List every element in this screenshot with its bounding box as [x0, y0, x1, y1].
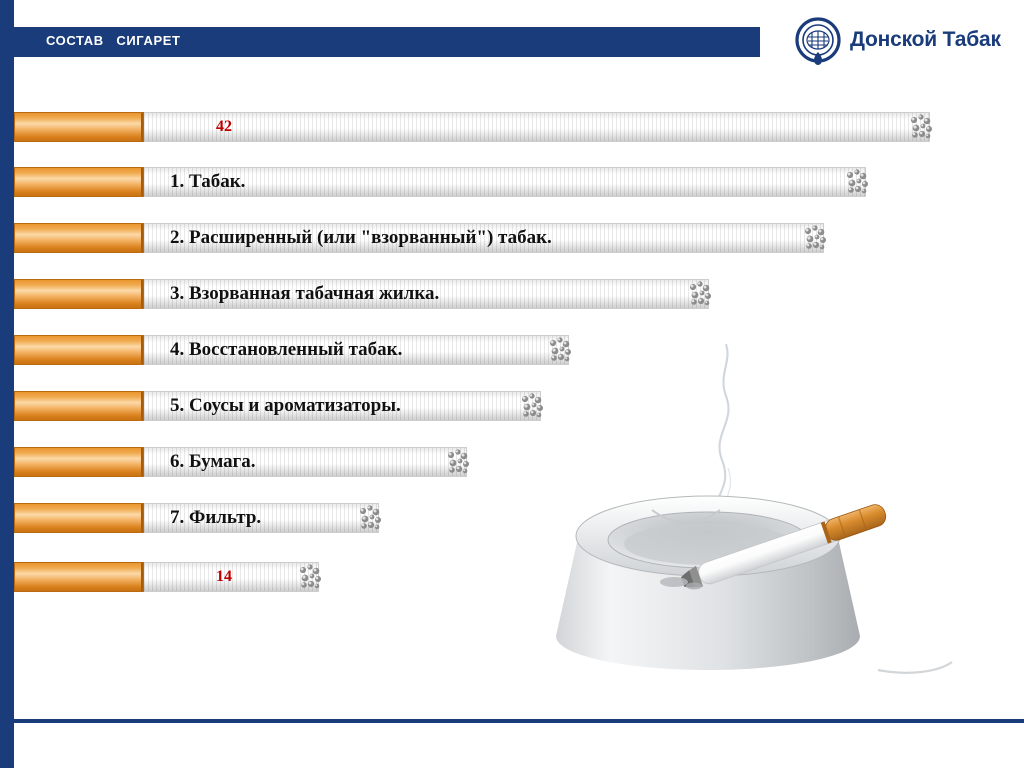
- ingredient-label: 4. Восстановленный табак.: [170, 339, 402, 361]
- cigarette-filter: [14, 503, 144, 533]
- cigarette-filter: [14, 562, 144, 592]
- ingredient-label: 6. Бумага.: [170, 451, 256, 473]
- burning-tip-icon: [515, 388, 555, 424]
- cigarette-filter: [14, 279, 144, 309]
- burning-tip-icon: [353, 500, 393, 536]
- cigarette-paper: 2. Расширенный (или "взорванный") табак.: [144, 223, 824, 253]
- cigarette-filter: [14, 391, 144, 421]
- ingredient-label: 3. Взорванная табачная жилка.: [170, 283, 439, 305]
- burning-tip-icon: [798, 220, 838, 256]
- cigarette-count-label: 14: [216, 568, 232, 586]
- cigarette-filter: [14, 223, 144, 253]
- burning-tip-icon: [840, 164, 880, 200]
- cigarette-paper: 5. Соусы и ароматизаторы.: [144, 391, 541, 421]
- donskoy-tabak-emblem-icon: [792, 16, 844, 68]
- ashtray-with-cigarette-icon: [548, 430, 978, 690]
- left-border-bar: [0, 0, 14, 768]
- ingredient-label: 7. Фильтр.: [170, 507, 261, 529]
- cigarette-count-label: 42: [216, 118, 232, 136]
- cigarette-filter: [14, 112, 144, 142]
- brand-logo: Донской Табак: [792, 16, 1012, 68]
- burning-tip-icon: [543, 332, 583, 368]
- ingredient-label: 2. Расширенный (или "взорванный") табак.: [170, 227, 552, 249]
- burning-tip-icon: [441, 444, 481, 480]
- cigarette-paper: 4. Восстановленный табак.: [144, 335, 569, 365]
- cigarette-filter: [14, 167, 144, 197]
- cigarette-paper: 6. Бумага.: [144, 447, 467, 477]
- cigarette-paper: 42: [144, 112, 930, 142]
- cigarette-filter: [14, 447, 144, 477]
- page-title: СОСТАВ СИГАРЕТ: [46, 33, 181, 48]
- burning-tip-icon: [904, 109, 944, 145]
- ingredient-label: 5. Соусы и ароматизаторы.: [170, 395, 401, 417]
- cigarette-filter: [14, 335, 144, 365]
- cigarette-paper: 7. Фильтр.: [144, 503, 379, 533]
- bottom-border-bar: [0, 719, 1024, 723]
- cigarette-paper: 3. Взорванная табачная жилка.: [144, 279, 709, 309]
- burning-tip-icon: [293, 559, 333, 595]
- ingredient-label: 1. Табак.: [170, 171, 245, 193]
- cigarette-paper: 1. Табак.: [144, 167, 866, 197]
- brand-name: Донской Табак: [850, 28, 1001, 52]
